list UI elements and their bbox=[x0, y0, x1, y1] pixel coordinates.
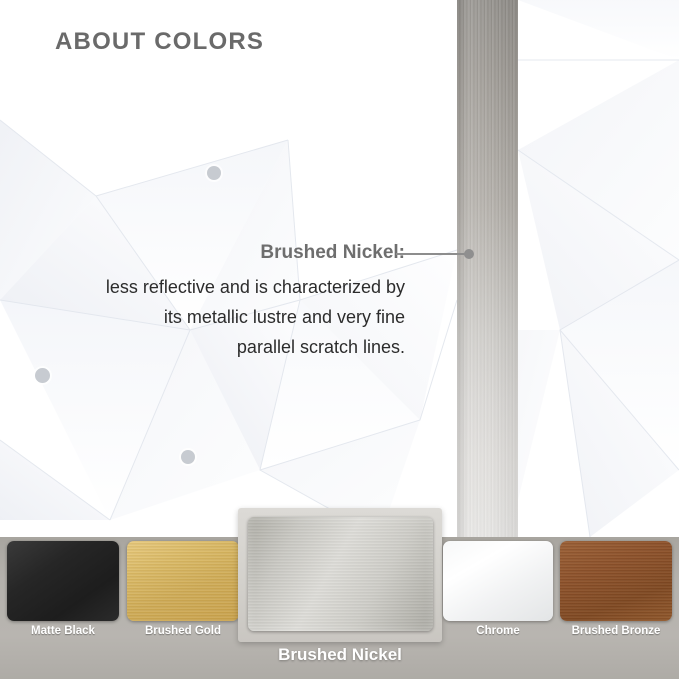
callout-lead: Brushed Nickel: bbox=[40, 240, 405, 266]
decor-dot-icon bbox=[181, 450, 195, 464]
callout-leader-dot-icon bbox=[464, 249, 474, 259]
swatch-matte-black[interactable] bbox=[7, 541, 119, 621]
swatch-label-brushed-nickel: Brushed Nickel bbox=[238, 645, 442, 665]
swatch-brushed-gold[interactable] bbox=[127, 541, 239, 621]
swatch-brushed-bronze[interactable] bbox=[560, 541, 672, 621]
page-title: ABOUT COLORS bbox=[55, 28, 264, 56]
swatch-label-chrome: Chrome bbox=[443, 625, 553, 637]
callout-leader-line bbox=[396, 253, 468, 255]
swatch-label-brushed-bronze: Brushed Bronze bbox=[560, 625, 672, 637]
callout-text-block: Brushed Nickel: less reflective and is c… bbox=[40, 240, 405, 362]
brushed-nickel-strip bbox=[457, 0, 518, 541]
decor-dot-icon bbox=[207, 166, 221, 180]
poster-canvas: ABOUT COLORS Brushed Nickel: less reflec… bbox=[0, 0, 679, 679]
swatch-brushed-nickel[interactable] bbox=[248, 517, 433, 631]
swatch-label-brushed-gold: Brushed Gold bbox=[127, 625, 239, 637]
callout-line: its metallic lustre and very fine bbox=[40, 302, 405, 332]
decor-dot-icon bbox=[35, 368, 50, 383]
swatch-label-matte-black: Matte Black bbox=[7, 625, 119, 637]
swatch-chrome[interactable] bbox=[443, 541, 553, 621]
callout-line: parallel scratch lines. bbox=[40, 332, 405, 362]
callout-line: less reflective and is characterized by bbox=[40, 272, 405, 302]
